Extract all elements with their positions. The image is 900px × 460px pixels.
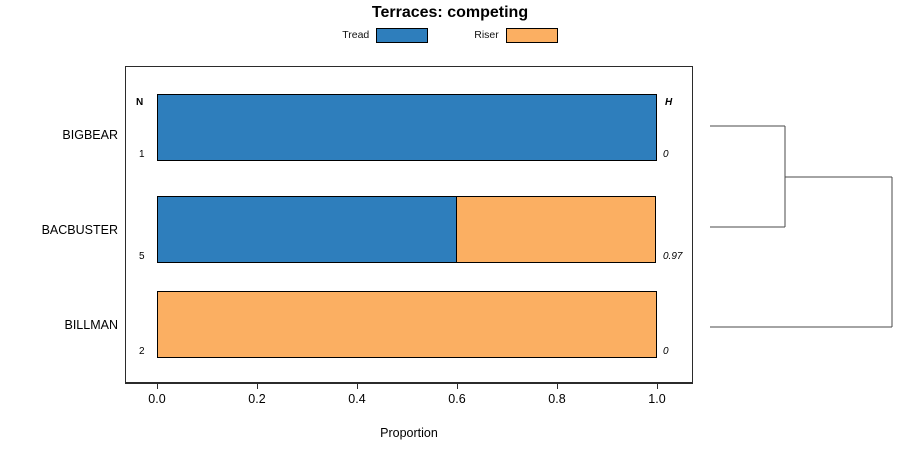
x-axis-line — [125, 383, 693, 384]
bar-segment-tread[interactable] — [157, 196, 457, 263]
h-value-bacbuster: 0.97 — [663, 251, 682, 262]
x-ticklabel-0: 0.0 — [127, 392, 187, 407]
x-tick-0 — [157, 383, 158, 389]
h-value-bigbear: 0 — [663, 149, 669, 160]
n-value-bigbear: 1 — [139, 149, 145, 160]
bar-row[interactable] — [157, 196, 657, 263]
x-ticklabel-4: 0.8 — [527, 392, 587, 407]
column-header-n: N — [136, 97, 143, 108]
x-tick-2 — [357, 383, 358, 389]
category-label-billman: BILLMAN — [6, 318, 118, 332]
chart-canvas: Terraces: competing Tread Riser BIGBEAR … — [0, 0, 900, 460]
dendrogram — [700, 60, 900, 390]
chart-title: Terraces: competing — [0, 4, 900, 22]
legend-swatch-tread — [376, 28, 428, 43]
bar-row[interactable] — [157, 291, 657, 358]
legend-item-riser[interactable]: Riser — [474, 28, 558, 43]
legend-swatch-riser — [506, 28, 558, 43]
n-value-bacbuster: 5 — [139, 251, 145, 262]
x-tick-5 — [657, 383, 658, 389]
bar-segment-tread[interactable] — [157, 94, 657, 161]
category-label-bacbuster: BACBUSTER — [6, 223, 118, 237]
chart-legend: Tread Riser — [0, 26, 900, 44]
legend-item-tread[interactable]: Tread — [342, 28, 428, 43]
column-header-h: H — [665, 97, 672, 108]
x-tick-3 — [457, 383, 458, 389]
x-ticklabel-1: 0.2 — [227, 392, 287, 407]
h-value-billman: 0 — [663, 346, 669, 357]
x-axis-title: Proportion — [125, 426, 693, 441]
legend-label-tread: Tread — [342, 29, 369, 41]
x-ticklabel-5: 1.0 — [627, 392, 687, 407]
legend-label-riser: Riser — [474, 29, 499, 41]
category-axis-labels: BIGBEAR BACBUSTER BILLMAN — [0, 0, 118, 460]
x-ticklabel-2: 0.4 — [327, 392, 387, 407]
category-label-bigbear: BIGBEAR — [6, 128, 118, 142]
x-ticklabel-3: 0.6 — [427, 392, 487, 407]
n-value-billman: 2 — [139, 346, 145, 357]
bar-row[interactable] — [157, 94, 657, 161]
x-tick-1 — [257, 383, 258, 389]
bar-segment-riser[interactable] — [456, 196, 656, 263]
bar-segment-riser[interactable] — [157, 291, 657, 358]
x-tick-4 — [557, 383, 558, 389]
